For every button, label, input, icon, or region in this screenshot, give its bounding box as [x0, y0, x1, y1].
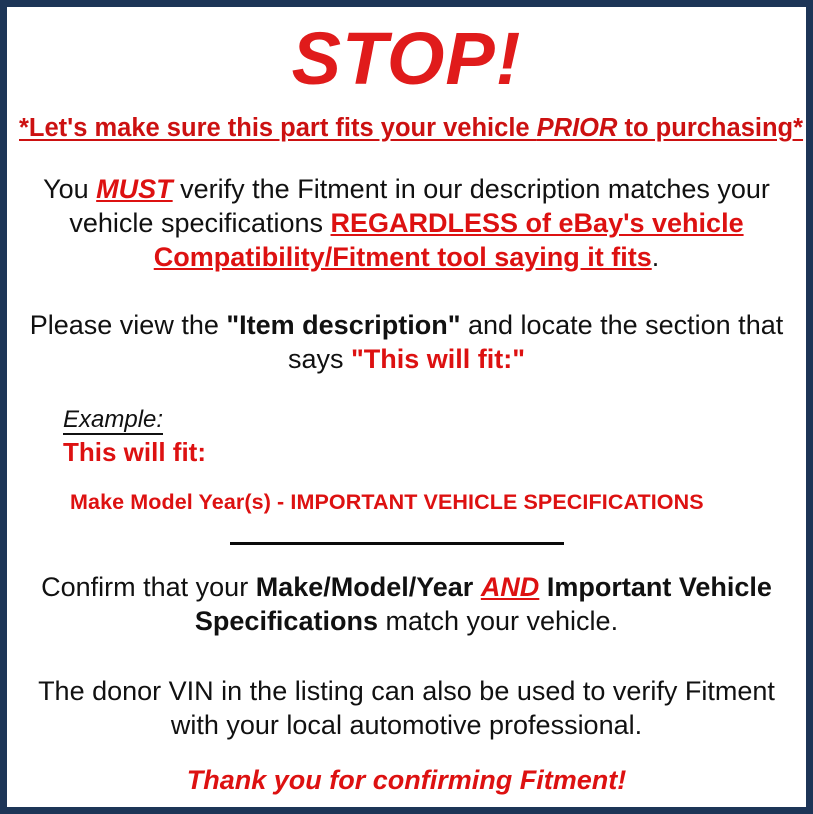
fitment-notice-card: STOP! *Let's make sure this part fits yo…: [0, 0, 813, 814]
example-block: Example: This will fit: Make Model Year(…: [19, 406, 794, 514]
example-label: Example:: [63, 406, 163, 435]
and-emphasis: AND: [481, 572, 540, 602]
example-label-row: Example:: [63, 406, 794, 435]
tagline-part1: *Let's make sure this part fits your veh…: [19, 114, 537, 142]
this-will-fit-emphasis: "This will fit:": [351, 344, 525, 374]
must-verify-paragraph: You MUST verify the Fitment in our descr…: [19, 172, 794, 274]
thank-you-line: Thank you for confirming Fitment!: [19, 764, 794, 796]
donor-vin-paragraph: The donor VIN in the listing can also be…: [19, 674, 794, 742]
describe-seg-1: Please view the: [30, 310, 227, 340]
stop-heading: STOP!: [19, 7, 794, 98]
example-fit-line: This will fit:: [63, 437, 794, 467]
tagline-part2: to purchasing*: [617, 114, 803, 142]
tagline: *Let's make sure this part fits your veh…: [19, 114, 794, 142]
divider: [19, 538, 794, 548]
tagline-emphasis-prior: PRIOR: [537, 114, 618, 142]
confirm-seg-4: match your vehicle.: [378, 606, 618, 636]
confirm-paragraph: Confirm that your Make/Model/Year AND Im…: [19, 570, 794, 638]
confirm-seg-3: [539, 572, 547, 602]
must-seg-3: .: [652, 242, 660, 272]
confirm-seg-2: [473, 572, 481, 602]
must-seg-1: You: [43, 174, 96, 204]
item-description-emphasis: "Item description": [226, 310, 460, 340]
make-model-year-emphasis: Make/Model/Year: [256, 572, 474, 602]
must-emphasis: MUST: [96, 174, 173, 204]
item-description-paragraph: Please view the "Item description" and l…: [19, 308, 794, 376]
example-spec-line: Make Model Year(s) - IMPORTANT VEHICLE S…: [70, 490, 794, 515]
divider-rule: [230, 542, 564, 545]
confirm-seg-1: Confirm that your: [41, 572, 256, 602]
